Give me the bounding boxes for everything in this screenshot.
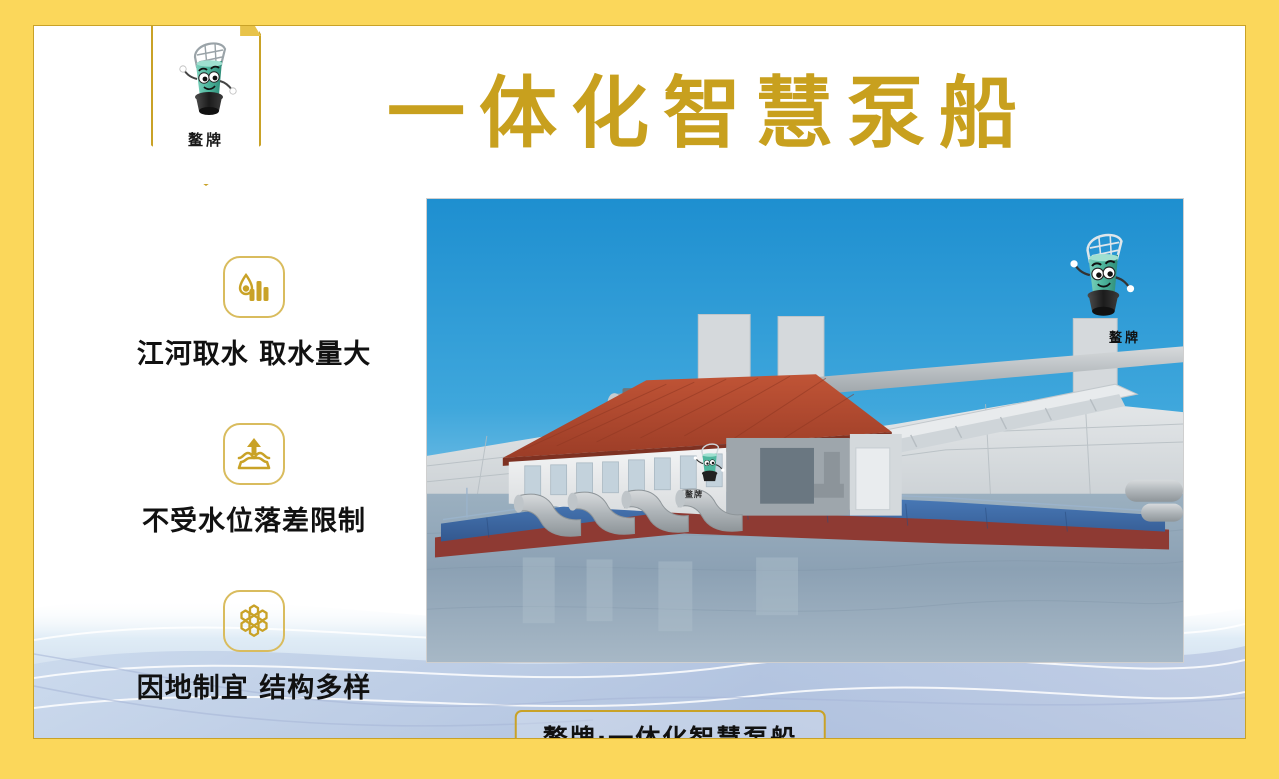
photo-mascot-label: 鳌牌: [1109, 327, 1141, 346]
honeycomb-icon: [223, 590, 285, 652]
feature-label: 江河取水 取水量大: [89, 332, 419, 371]
feature-label: 不受水位落差限制: [89, 499, 419, 538]
caption: 鳌牌·一体化智慧泵船: [515, 710, 826, 739]
brand-ribbon: 鳌牌: [151, 25, 261, 186]
arrow-up-waves-icon: [223, 423, 285, 485]
pump-mascot-icon: [1065, 224, 1135, 324]
ribbon-brand-label: 鳌牌: [151, 129, 261, 150]
feature-label: 因地制宜 结构多样: [89, 666, 419, 705]
feature-item-water-level: 不受水位落差限制: [89, 423, 419, 538]
feature-list: 江河取水 取水量大 不受水位落差限制: [89, 256, 419, 705]
pump-boat-render: 鳌牌 鳌牌: [426, 198, 1184, 663]
water-drop-bar-chart-icon: [223, 256, 285, 318]
barge-mascot-label: 鳌牌: [685, 489, 703, 500]
page-title: 一体化智慧泵船: [294, 74, 1124, 156]
caption-text: 鳌牌·一体化智慧泵船: [515, 710, 826, 739]
feature-item-structure: 因地制宜 结构多样: [89, 590, 419, 705]
poster-root: 鳌牌 一体化智慧泵船 江河取水 取水量大: [0, 0, 1279, 779]
pump-mascot-icon: [175, 35, 237, 121]
barge-mascot-icon: [691, 439, 725, 487]
feature-item-water-intake: 江河取水 取水量大: [89, 256, 419, 371]
poster-inner-card: 鳌牌 一体化智慧泵船 江河取水 取水量大: [33, 25, 1246, 739]
